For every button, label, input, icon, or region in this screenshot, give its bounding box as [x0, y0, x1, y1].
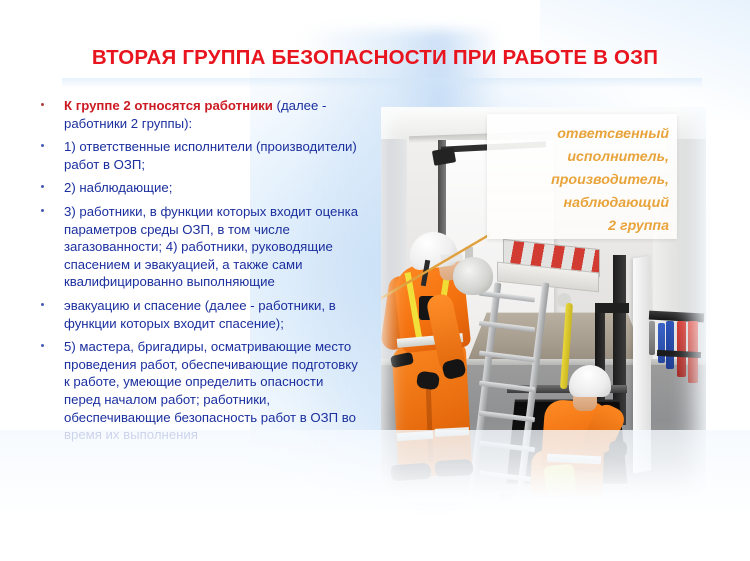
bullet-5-text: эвакуацию и спасение (далее - работники,… — [64, 298, 336, 331]
worker-standing-boot — [390, 463, 431, 482]
slide-root: ВТОРАЯ ГРУППА БЕЗОПАСНОСТИ ПРИ РАБОТЕ В … — [0, 0, 750, 561]
callout-line-5: 2 группа — [491, 215, 669, 238]
bullet-dot-icon — [41, 144, 44, 147]
bullet-dot-icon — [41, 103, 44, 106]
photo-scene: ответсвенный исполнитель, производитель,… — [381, 107, 706, 502]
scene-tool-grey-icon — [649, 321, 655, 355]
bullet-item-1: К группе 2 относятся работники (далее - … — [30, 97, 360, 132]
scene-tool-red-icon — [677, 321, 686, 377]
bullet-6-text: 5) мастера, бригадиры, осматривающие мес… — [64, 339, 358, 442]
bullet-3-text: 2) наблюдающие; — [64, 180, 172, 195]
bullet-dot-icon — [41, 303, 44, 306]
worker-in-hatch-helmet-icon — [569, 365, 611, 397]
worker-standing-helmet-icon — [407, 229, 460, 271]
bullet-item-3: 2) наблюдающие; — [30, 179, 360, 197]
callout-box: ответсвенный исполнитель, производитель,… — [487, 114, 677, 239]
bullet-1-lead: К группе 2 относятся работники — [64, 98, 273, 113]
title-underglow — [62, 78, 702, 88]
scene-winch-device — [453, 257, 493, 295]
bullet-dot-icon — [41, 344, 44, 347]
callout-line-2: исполнитель, — [491, 146, 669, 169]
slide-title-text: ВТОРАЯ ГРУППА БЕЗОПАСНОСТИ ПРИ РАБОТЕ В … — [92, 46, 658, 70]
bullet-dot-icon — [41, 185, 44, 188]
bullet-item-4: 3) работники, в функции которых входит о… — [30, 203, 360, 291]
scene-tool-blue-icon — [666, 321, 674, 369]
callout-text: ответсвенный исполнитель, производитель,… — [491, 123, 669, 238]
confined-space-photo: ответсвенный исполнитель, производитель,… — [381, 107, 706, 502]
callout-line-1: ответсвенный — [491, 123, 669, 146]
bullet-2-text: 1) ответственные исполнители (производит… — [64, 139, 357, 172]
worker-in-hatch-glove — [609, 441, 627, 457]
worker-standing-glove — [416, 371, 440, 391]
bullet-item-6: 5) мастера, бригадиры, осматривающие мес… — [30, 338, 360, 444]
scene-tool-blue-b-icon — [658, 323, 665, 363]
bullet-list: К группе 2 относятся работники (далее - … — [30, 97, 360, 450]
worker-in-hatch — [523, 365, 633, 502]
bullet-item-2: 1) ответственные исполнители (производит… — [30, 138, 360, 173]
bullet-item-5: эвакуацию и спасение (далее - работники,… — [30, 297, 360, 332]
callout-line-3: производитель, — [491, 169, 669, 192]
bullet-4-text: 3) работники, в функции которых входит о… — [64, 204, 358, 289]
scene-right-board — [633, 256, 651, 474]
worker-in-hatch-equipment-bag — [544, 464, 577, 497]
worker-standing-boot — [435, 459, 474, 477]
callout-line-4: наблюдающий — [491, 192, 669, 215]
slide-title: ВТОРАЯ ГРУППА БЕЗОПАСНОСТИ ПРИ РАБОТЕ В … — [0, 46, 750, 70]
scene-black-crossbar — [595, 303, 629, 313]
bullet-dot-icon — [41, 209, 44, 212]
